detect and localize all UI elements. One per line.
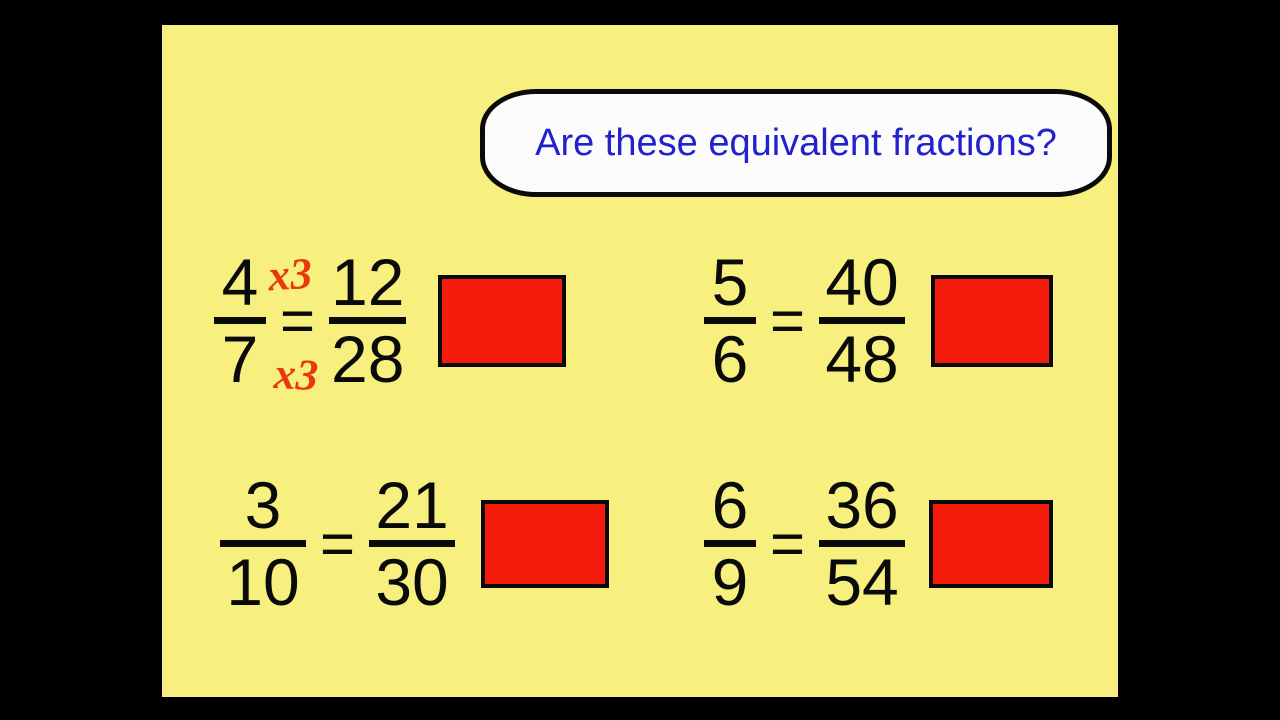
multiplier-annotation-top-1: x3 (267, 252, 314, 299)
fraction-left-3: 3 10 (220, 473, 306, 614)
numerator: 21 (373, 473, 450, 538)
multiplier-annotation-bottom-1: x3 (273, 352, 319, 398)
page-title: Are these equivalent fractions? (535, 122, 1057, 165)
equals-sign-1: = (280, 291, 315, 351)
denominator: 48 (823, 327, 900, 392)
denominator: 9 (710, 550, 751, 615)
problem-3: 3 10 = 21 30 (220, 473, 609, 614)
answer-box-3[interactable] (481, 500, 609, 588)
equals-sign-2: = (770, 291, 805, 351)
numerator: 3 (243, 473, 284, 538)
denominator: 6 (710, 327, 751, 392)
fraction-left-2: 5 6 (704, 250, 756, 391)
denominator: 30 (373, 550, 450, 615)
equals-sign-4: = (770, 514, 805, 574)
fraction-right-1: 12 28 (329, 250, 406, 391)
numerator: 5 (710, 250, 751, 315)
denominator: 54 (823, 550, 900, 615)
fraction-right-4: 36 54 (819, 473, 905, 614)
denominator: 7 (220, 327, 261, 392)
fraction-right-3: 21 30 (369, 473, 455, 614)
denominator: 10 (224, 550, 301, 615)
title-callout-box: Are these equivalent fractions? (480, 89, 1112, 197)
fraction-left-4: 6 9 (704, 473, 756, 614)
problem-4: 6 9 = 36 54 (704, 473, 1053, 614)
answer-box-1[interactable] (438, 275, 566, 367)
answer-box-4[interactable] (929, 500, 1053, 588)
numerator: 40 (823, 250, 900, 315)
problem-2: 5 6 = 40 48 (704, 250, 1053, 391)
numerator: 4 (220, 250, 261, 315)
slide-panel: Are these equivalent fractions? 4 7 = 12… (162, 25, 1118, 697)
fraction-right-2: 40 48 (819, 250, 905, 391)
slide-stage: Are these equivalent fractions? 4 7 = 12… (0, 0, 1280, 720)
denominator: 28 (329, 327, 406, 392)
numerator: 36 (823, 473, 900, 538)
answer-box-2[interactable] (931, 275, 1053, 367)
fraction-left-1: 4 7 (214, 250, 266, 391)
numerator: 6 (710, 473, 751, 538)
equals-sign-3: = (320, 514, 355, 574)
numerator: 12 (329, 250, 406, 315)
